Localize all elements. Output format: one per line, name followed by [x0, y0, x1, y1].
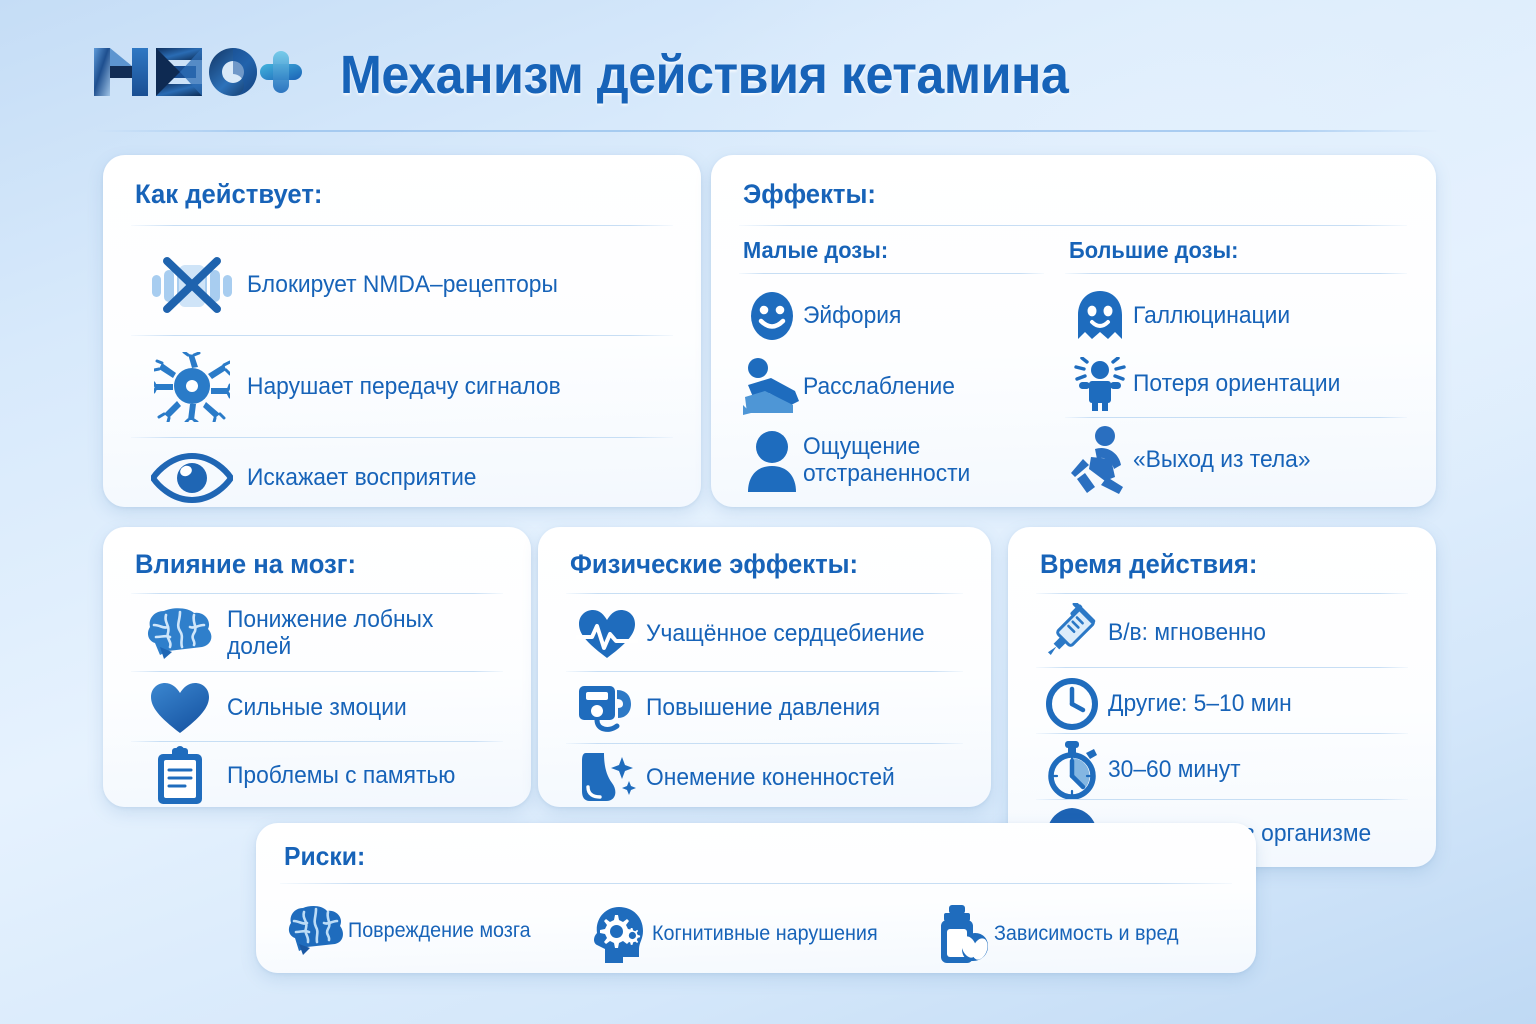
subsection-high-dose-title: Большие дозы:	[1069, 237, 1238, 264]
nmda-receptor-blocked-icon	[137, 253, 247, 317]
list-item: Когнитивные нарушения	[586, 905, 892, 963]
list-item: Зависимость и вред	[930, 905, 1190, 963]
divider	[739, 273, 1044, 274]
divider	[131, 741, 503, 742]
eye-icon	[137, 452, 247, 504]
neo-plus-logo	[92, 40, 302, 104]
floating-body-icon	[1067, 425, 1133, 495]
syringe-icon	[1036, 603, 1108, 663]
list-item: Онемение коненностей	[568, 749, 973, 807]
disoriented-person-icon	[1067, 357, 1133, 411]
list-item-label: Искажает восприятие	[247, 465, 476, 492]
list-item-label: Галлюцинации	[1133, 303, 1290, 330]
clock-icon	[1036, 677, 1108, 731]
heart-icon	[133, 681, 227, 735]
list-item-label: 30–60 минут	[1108, 757, 1241, 784]
list-item-label: Другие: 5–10 мин	[1108, 691, 1292, 718]
card-brain-impact: Влияние на мозг: Понижение ло	[103, 527, 531, 807]
list-item: Повышение давления	[568, 677, 973, 739]
list-item: Сильные змоции	[133, 679, 513, 737]
page-title: Механизм действия кетамина	[340, 44, 1068, 106]
person-silhouette-icon	[741, 430, 803, 492]
card-effects: Эффекты: Малые дозы: Эйфория	[711, 155, 1436, 507]
divider	[280, 883, 1232, 884]
neuron-icon	[137, 352, 247, 422]
list-item-label: Проблемы с памятью	[227, 763, 455, 790]
divider	[1036, 593, 1408, 594]
brain-icon	[133, 607, 227, 661]
list-item: Нарушает передачу сигналов	[137, 345, 677, 429]
list-item: Учащённое сердцебиение	[568, 603, 973, 665]
list-item-label: Учащённое сердцебиение	[646, 621, 925, 648]
card-how-it-works: Как действует:	[103, 155, 701, 507]
stopwatch-icon	[1036, 741, 1108, 799]
card-risks-title: Риски:	[284, 841, 365, 872]
infographic-canvas: Механизм действия кетамина Как действует…	[0, 0, 1536, 1024]
card-effects-title: Эффекты:	[743, 179, 876, 210]
list-item: Блокирует NMDA–рецепторы	[137, 243, 677, 327]
list-item-label: Повышение давления	[646, 695, 880, 722]
divider	[1036, 667, 1408, 668]
divider	[131, 593, 503, 594]
list-item: Другие: 5–10 мин	[1036, 673, 1416, 735]
list-item-label: Потеря ориентации	[1133, 371, 1340, 398]
list-item: Ощущение отстраненности	[741, 425, 1051, 497]
header-divider	[96, 130, 1440, 132]
list-item: Повреждение мозга	[284, 905, 542, 957]
blood-pressure-monitor-icon	[568, 680, 646, 736]
card-duration-title: Время действия:	[1040, 549, 1257, 580]
list-item: Галлюцинации	[1067, 285, 1413, 347]
reclining-person-icon	[741, 357, 803, 417]
divider	[566, 671, 963, 672]
list-item-label: Ощущение отстраненности	[803, 434, 970, 488]
list-item-label: «Выход из тела»	[1133, 447, 1311, 474]
divider	[566, 743, 963, 744]
divider	[739, 225, 1407, 226]
list-item-label: Эйфория	[803, 303, 901, 330]
list-item: Проблемы с памятью	[133, 747, 513, 805]
ghost-icon	[1067, 289, 1133, 343]
divider	[131, 335, 673, 336]
list-item-label: Понижение лобных долей	[227, 607, 499, 661]
header: Механизм действия кетамина	[0, 0, 1536, 138]
pill-bottle-icon	[930, 905, 994, 963]
clipboard-icon	[133, 746, 227, 806]
list-item-label: Блокирует NMDA–рецепторы	[247, 272, 558, 299]
list-item-label: Когнитивные нарушения	[652, 922, 878, 946]
list-item: Потеря ориентации	[1067, 351, 1413, 417]
list-item-label: Расслабление	[803, 374, 955, 401]
list-item: Эйфория	[741, 285, 1051, 347]
card-physical-effects-title: Физические эффекты:	[570, 549, 858, 580]
list-item-label: Зависимость и вред	[994, 922, 1179, 946]
list-item-label: Нарушает передачу сигналов	[247, 374, 561, 401]
list-item: В/в: мгновенно	[1036, 601, 1416, 665]
divider	[131, 437, 673, 438]
divider	[1065, 417, 1407, 418]
divider	[131, 225, 673, 226]
head-gears-icon	[586, 905, 652, 963]
divider	[131, 671, 503, 672]
list-item: 30–60 минут	[1036, 739, 1416, 801]
heartbeat-icon	[568, 608, 646, 660]
card-risks: Риски: Повреждение мозга	[256, 823, 1256, 973]
list-item: Расслабление	[741, 351, 1051, 423]
card-brain-impact-title: Влияние на мозг:	[135, 549, 356, 580]
card-physical-effects: Физические эффекты: Учащённое сердцебиен…	[538, 527, 991, 807]
list-item-label: В/в: мгновенно	[1108, 620, 1266, 647]
damaged-brain-icon	[284, 905, 348, 957]
list-item-label: Онемение коненностей	[646, 765, 895, 792]
numb-foot-icon	[568, 751, 646, 805]
divider	[1065, 273, 1407, 274]
list-item-label: Сильные змоции	[227, 695, 407, 722]
card-how-it-works-title: Как действует:	[135, 179, 322, 210]
list-item-label: Повреждение мозга	[348, 919, 531, 943]
divider	[1036, 733, 1408, 734]
divider	[1036, 799, 1408, 800]
card-duration: Время действия:	[1008, 527, 1436, 867]
list-item: Понижение лобных долей	[133, 603, 513, 665]
list-item: «Выход из тела»	[1067, 423, 1413, 497]
subsection-low-dose-title: Малые дозы:	[743, 237, 888, 264]
divider	[566, 593, 963, 594]
smiley-face-icon	[741, 290, 803, 342]
list-item: Искажает восприятие	[137, 445, 677, 511]
